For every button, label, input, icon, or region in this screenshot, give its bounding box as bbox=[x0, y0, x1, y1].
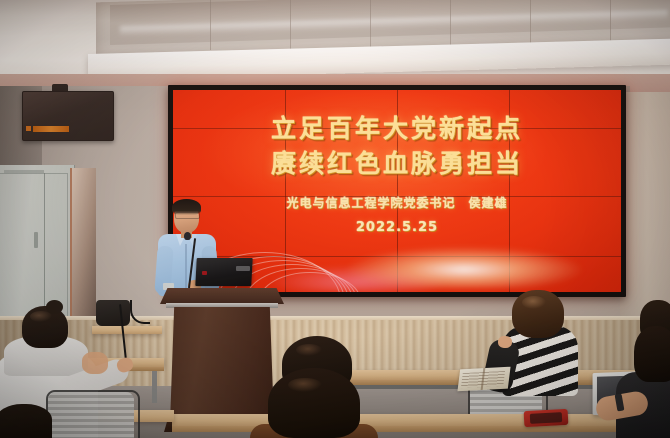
desk-leg bbox=[152, 371, 157, 403]
desk-surface bbox=[92, 326, 162, 334]
microphone-icon bbox=[184, 232, 191, 240]
desk-surface-front bbox=[172, 414, 670, 426]
cabinet-handle[interactable] bbox=[34, 232, 38, 248]
laptop-logo bbox=[236, 266, 250, 271]
cabinet-vent bbox=[4, 170, 44, 173]
slide-title-line-2: 赓续红色血脉勇担当 bbox=[271, 147, 523, 182]
hair-highlight bbox=[288, 378, 322, 392]
bag bbox=[96, 300, 130, 326]
cabinet-open-door[interactable] bbox=[70, 168, 96, 326]
cabinet-seam bbox=[44, 173, 45, 323]
glasses-icon bbox=[175, 212, 200, 219]
audience-hoodie-shoulder-skin bbox=[82, 352, 108, 374]
hair-highlight bbox=[30, 311, 52, 322]
right-wall bbox=[620, 92, 670, 334]
smartphone-screen[interactable] bbox=[530, 412, 562, 424]
ceiling-grid-line bbox=[370, 0, 371, 50]
ceiling-grid-line bbox=[450, 0, 451, 50]
lecture-hall-photo: 立足百年大党新起点 赓续红色血脉勇担当 光电与信息工程学院党委书记 侯建雄 20… bbox=[0, 0, 670, 438]
desk-edge-front bbox=[172, 426, 670, 432]
laptop-indicator-icon bbox=[202, 271, 207, 275]
chair-frame-left bbox=[46, 390, 140, 438]
speaker-shirt-placket bbox=[185, 244, 187, 290]
audience-front-left-partial bbox=[0, 404, 52, 438]
podium-body bbox=[170, 307, 274, 423]
audience-striped-sweater-hand bbox=[498, 336, 512, 348]
podium-top bbox=[160, 288, 284, 304]
slide-date: 2022.5.25 bbox=[356, 220, 438, 235]
slide-title-line-1: 立足百年大党新起点 bbox=[271, 112, 523, 147]
hair-highlight bbox=[522, 296, 546, 309]
slide-subtitle: 光电与信息工程学院党委书记 侯建雄 bbox=[286, 194, 507, 211]
wall-display[interactable] bbox=[22, 91, 114, 141]
ceiling-grid-line bbox=[210, 0, 211, 50]
hair-highlight bbox=[296, 344, 322, 356]
audience-laptop-user-hair bbox=[634, 326, 670, 382]
led-ticker-sign bbox=[33, 126, 69, 132]
led-indicator-icon bbox=[26, 126, 31, 131]
ceiling-grid-line bbox=[290, 0, 291, 50]
